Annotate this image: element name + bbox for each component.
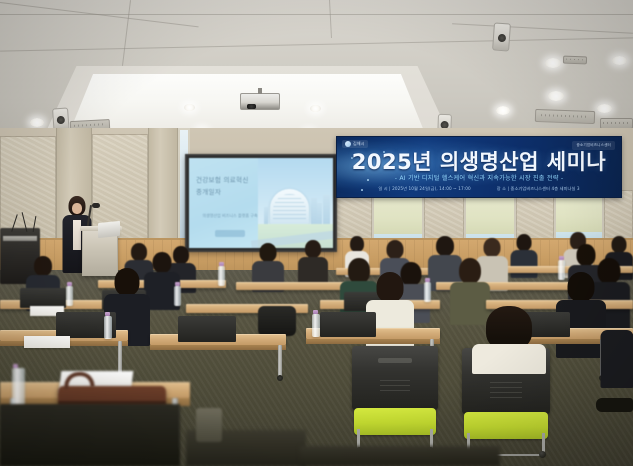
banner-meta: 일 시 | 2025년 10월 24일(금), 14:00 ~ 17:00 장 …	[337, 186, 621, 192]
chair[interactable]	[352, 346, 438, 450]
ceiling-vent	[535, 109, 595, 124]
table-leg	[278, 345, 282, 377]
chair[interactable]	[300, 446, 500, 466]
downlight	[612, 56, 627, 65]
attendee-head	[387, 240, 404, 259]
roller-blind[interactable]	[466, 194, 514, 234]
ceiling-grid-line	[452, 23, 633, 33]
downlight	[496, 106, 510, 115]
presenter-inner-top	[73, 220, 81, 250]
attendee-head	[350, 236, 364, 252]
water-bottle	[424, 282, 431, 302]
laptop	[320, 312, 376, 337]
downlight	[310, 105, 321, 112]
laptop	[178, 316, 236, 342]
attendee-head	[153, 252, 172, 273]
slide-badge	[215, 230, 245, 237]
attendee	[472, 306, 546, 370]
slide-subtitle: 중개일자	[196, 188, 258, 197]
city-emblem-icon	[345, 141, 351, 147]
chair[interactable]	[0, 404, 180, 466]
ceiling-grid-line	[122, 0, 131, 66]
microphone-icon	[92, 203, 100, 208]
floor-object	[196, 408, 222, 442]
downlight	[184, 104, 195, 111]
attendee-head	[436, 236, 454, 256]
table-edge	[150, 345, 286, 350]
slide-text-pane: 건강보험 의료혁신 중개일자 의생명산업 비즈니스 플랫폼 구축	[189, 158, 261, 248]
projector-lens-icon	[247, 104, 256, 109]
water-bottle	[66, 286, 73, 306]
roller-blind[interactable]	[374, 194, 422, 234]
podium-laptop	[98, 221, 120, 238]
projection-screen: 건강보험 의료혁신 중개일자 의생명산업 비즈니스 플랫폼 구축	[185, 154, 337, 252]
banner-right-logo: 중소기업비즈니스센터	[572, 141, 615, 150]
slide-title: 건강보험 의료혁신	[196, 176, 258, 185]
ceiling	[0, 0, 633, 136]
attendee-head	[34, 256, 52, 276]
chair-back-slots	[380, 380, 411, 395]
slide-image-pane	[258, 158, 333, 248]
attendee-head	[260, 243, 277, 262]
attendee-torso	[511, 250, 538, 278]
attendee-head	[459, 258, 481, 284]
slide-skyline-tower	[311, 198, 317, 225]
chair-backrest	[352, 346, 438, 410]
slide-skyline-tower	[317, 203, 322, 225]
slide-skyline-tower	[264, 207, 268, 225]
attendee-head	[568, 272, 595, 302]
attendee-head	[377, 272, 404, 302]
event-banner: 김해시 중소기업비즈니스센터 2025년 의생명산업 세미나 - AI 기반 디…	[336, 136, 622, 198]
water-bottle	[12, 368, 25, 406]
water-bottle	[174, 286, 181, 306]
attendee-head	[305, 240, 321, 258]
banner-left-logo: 김해시	[342, 140, 368, 148]
banner-datetime: 일 시 | 2025년 10월 24일(금), 14:00 ~ 17:00	[378, 186, 470, 192]
attendee-head	[484, 238, 501, 257]
slide-caption: 의생명산업 비즈니스 플랫폼 구축	[201, 213, 259, 219]
attendee-head	[612, 236, 627, 253]
ceiling-projector	[240, 93, 280, 110]
attendee-torso	[472, 344, 546, 374]
banner-venue: 장 소 | 중소기업비즈니스센터 4층 세미나실 3	[497, 186, 580, 192]
attendee-head	[115, 268, 140, 296]
presenter-face	[72, 203, 82, 214]
table-edge	[306, 339, 440, 344]
ceiling-vent	[563, 56, 587, 65]
banner-left-logo-label: 김해시	[353, 141, 365, 147]
shoe	[596, 398, 633, 412]
downlight	[548, 91, 564, 101]
chair-caster	[539, 451, 546, 458]
water-bottle	[218, 266, 225, 286]
downlight	[545, 58, 561, 68]
backpack-on-floor	[258, 306, 296, 336]
ceiling-grid-line	[0, 37, 633, 51]
water-bottle	[104, 316, 112, 339]
projected-slide: 건강보험 의료혁신 중개일자 의생명산업 비즈니스 플랫폼 구축	[189, 158, 333, 248]
chair-back-slots	[490, 382, 522, 398]
ceiling-speaker	[492, 22, 511, 51]
banner-title: 2025년 의생명산업 세미나	[337, 151, 621, 174]
ceiling-grid-line	[329, 0, 332, 38]
attendee	[298, 240, 328, 288]
downlight	[597, 104, 612, 113]
slide-skyline-tower	[323, 195, 330, 225]
document-paper	[24, 336, 70, 348]
water-bottle	[312, 314, 320, 337]
attendee-head	[517, 234, 532, 251]
attendee-torso	[600, 330, 633, 388]
seminar-room-photo: 건강보험 의료혁신 중개일자 의생명산업 비즈니스 플랫폼 구축	[0, 0, 633, 466]
table-leg	[118, 341, 122, 375]
banner-subtitle: - AI 기반 디지털 헬스케어 혁신과 지속가능한 시장 진출 전략 -	[337, 175, 621, 183]
slide-building-render	[270, 189, 309, 225]
downlight	[30, 118, 44, 127]
laptop	[20, 288, 66, 308]
